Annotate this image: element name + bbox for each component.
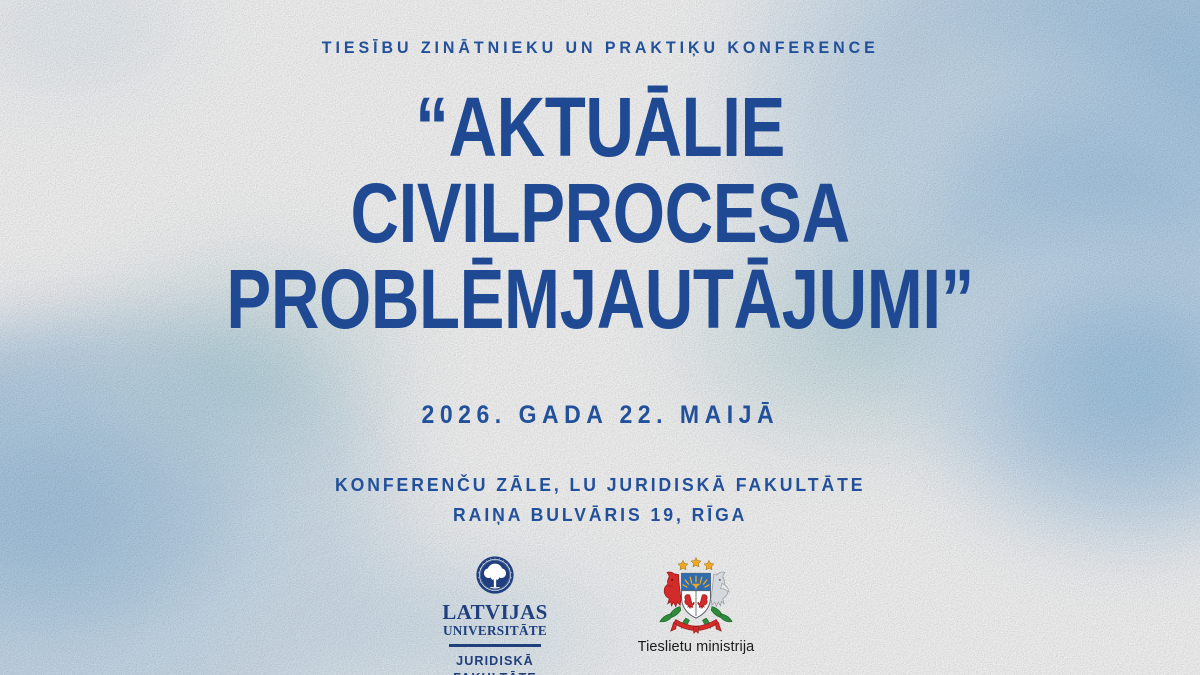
logo-tieslietu-ministrija: Tieslietu ministrija xyxy=(621,556,771,655)
venue-line-1: KONFERENČU ZĀLE, LU JURIDISKĀ FAKULTĀTE xyxy=(335,470,865,500)
conference-kicker: TIESĪBU ZINĀTNIEKU UN PRAKTIĶU KONFERENC… xyxy=(322,38,879,58)
title-line-2: CIVILPROCESA xyxy=(226,174,973,254)
lu-name-top: LATVIJAS xyxy=(442,601,548,623)
event-venue: KONFERENČU ZĀLE, LU JURIDISKĀ FAKULTĀTE … xyxy=(335,470,865,530)
lu-faculty-bottom: FAKULTĀTE xyxy=(453,670,537,675)
lu-tree-seal-icon xyxy=(476,556,514,594)
conference-poster: TIESĪBU ZINĀTNIEKU UN PRAKTIĶU KONFERENC… xyxy=(0,0,1200,675)
poster-title: “AKTUĀLIE CIVILPROCESA PROBLĒMJAUTĀJUMI” xyxy=(133,88,1067,339)
lu-faculty-top: JURIDISKĀ xyxy=(453,653,537,670)
logo-latvijas-universitate: LATVIJAS UNIVERSITĀTE JURIDISKĀ FAKULTĀT… xyxy=(429,556,561,675)
venue-line-2: RAIŅA BULVĀRIS 19, RĪGA xyxy=(335,500,865,530)
poster-content: TIESĪBU ZINĀTNIEKU UN PRAKTIĶU KONFERENC… xyxy=(0,0,1200,675)
title-line-3: PROBLĒMJAUTĀJUMI” xyxy=(226,260,973,340)
lu-name-bottom: UNIVERSITĀTE xyxy=(442,624,548,638)
event-date: 2026. GADA 22. MAIJĀ xyxy=(421,401,779,430)
ministry-label: Tieslietu ministrija xyxy=(638,639,755,655)
title-line-1: “AKTUĀLIE xyxy=(226,88,973,168)
latvia-coat-of-arms-icon xyxy=(637,556,755,634)
lu-faculty-name: JURIDISKĀ FAKULTĀTE xyxy=(453,653,537,675)
lu-wordmark: LATVIJAS UNIVERSITĀTE xyxy=(442,601,548,638)
lu-divider xyxy=(449,644,541,647)
logo-row: LATVIJAS UNIVERSITĀTE JURIDISKĀ FAKULTĀT… xyxy=(429,556,771,675)
